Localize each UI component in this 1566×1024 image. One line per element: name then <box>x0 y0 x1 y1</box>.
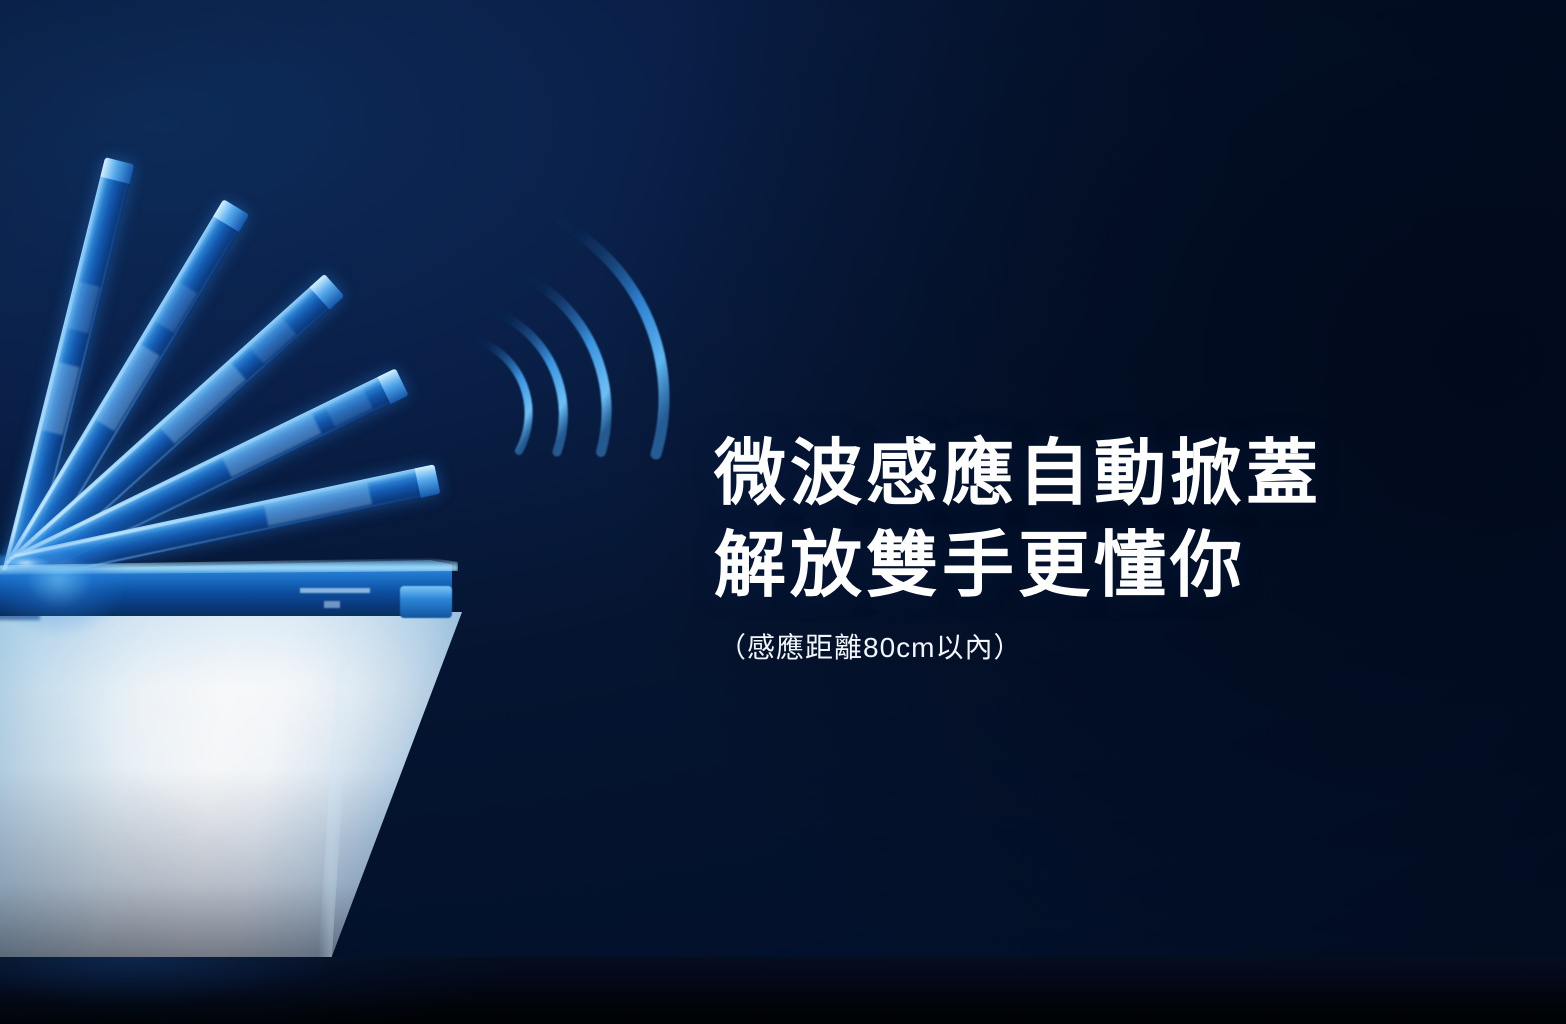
text-block: 微波感應自動掀蓋 解放雙手更懂你 （感應距離80cm以內） <box>714 428 1414 666</box>
floor-reflection-glow <box>0 957 580 1024</box>
headline-line-1: 微波感應自動掀蓋 <box>714 428 1414 520</box>
promo-banner: 微波感應自動掀蓋 解放雙手更懂你 （感應距離80cm以內） <box>0 0 1566 1024</box>
subtitle-text: （感應距離80cm以內） <box>718 630 1414 666</box>
headline-line-2: 解放雙手更懂你 <box>714 520 1414 612</box>
